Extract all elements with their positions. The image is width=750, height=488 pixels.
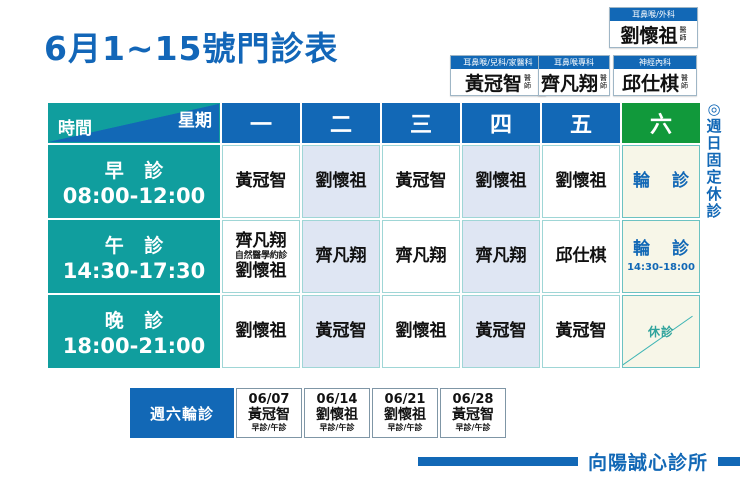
rotation-entry-0: 06/07 黃冠智 早診/午診 (236, 388, 302, 438)
slot-mon-morning: 黃冠智 (222, 145, 300, 218)
rotation-entry-3: 06/28 黃冠智 早診/午診 (440, 388, 506, 438)
rotation-label: 輪 診 (623, 240, 699, 260)
day-header-tue: 二 (302, 103, 380, 143)
doctor-specialty: 耳鼻喉/兒科/家醫科 (451, 56, 545, 69)
rotation-row: 週六輪診 06/07 黃冠智 早診/午診 06/14 劉懷祖 早診/午診 06/… (130, 388, 506, 438)
schedule-table: 時間 星期 一 二 三 四 五 六 早 診 08:00-12:00 黃冠智 劉懷… (46, 101, 702, 370)
sunday-closed-note: ◎ 週 日 固 定 休 診 (702, 101, 726, 220)
rotation-entry-2: 06/21 劉懷祖 早診/午診 (372, 388, 438, 438)
doctor-title-char-top: 醫 (680, 26, 687, 34)
rotation-doctor: 黃冠智 (441, 408, 505, 423)
rotation-sessions: 早診/午診 (305, 424, 369, 432)
rotation-date: 06/07 (237, 393, 301, 407)
rotation-doctor: 黃冠智 (237, 408, 301, 423)
day-header-fri: 五 (542, 103, 620, 143)
rotation-table-label: 週六輪診 (130, 388, 234, 438)
rotation-date: 06/14 (305, 393, 369, 407)
footer: 向陽誠心診所 (0, 448, 750, 474)
slot-mon-evening: 劉懷祖 (222, 295, 300, 368)
sunday-note-char-5: 休 (702, 186, 726, 203)
rotation-date: 06/28 (441, 393, 505, 407)
doctor-name-wrap: 齊凡翔 醫 師 (539, 69, 609, 95)
time-cell-afternoon: 午 診 14:30-17:30 (48, 220, 220, 293)
doctor-card-chi: 耳鼻喉專科 齊凡翔 醫 師 (538, 55, 610, 96)
rotation-sessions: 早診/午診 (441, 424, 505, 432)
footer-rule-right (718, 457, 740, 466)
doctor-specialty: 耳鼻喉/外科 (610, 8, 697, 21)
session-label: 早 診 (49, 156, 219, 183)
table-row-morning: 早 診 08:00-12:00 黃冠智 劉懷祖 黃冠智 劉懷祖 劉懷祖 輪 診 (48, 145, 700, 218)
sunday-note-char-2: 日 (702, 135, 726, 152)
doctor-name: 黃冠智 (465, 69, 522, 96)
slot-wed-morning: 黃冠智 (382, 145, 460, 218)
slot-thu-evening: 黃冠智 (462, 295, 540, 368)
slot-sat-morning: 輪 診 (622, 145, 700, 218)
doctor-title-char-bottom: 師 (681, 82, 688, 90)
session-label: 晚 診 (49, 306, 219, 333)
slot-fri-evening: 黃冠智 (542, 295, 620, 368)
sunday-note-char-3: 固 (702, 152, 726, 169)
header-corner-cell: 時間 星期 (48, 103, 220, 143)
rotation-sessions: 早診/午診 (237, 424, 301, 432)
doctor-title-suffix: 醫 師 (681, 74, 688, 90)
slot-thu-morning: 劉懷祖 (462, 145, 540, 218)
doctor-title-char-top: 醫 (681, 74, 688, 82)
session-time: 14:30-17:30 (49, 259, 219, 283)
doctor-title-char-bottom: 師 (600, 82, 607, 90)
slot-fri-morning: 劉懷祖 (542, 145, 620, 218)
doctor-name-wrap: 劉懷祖 醫 師 (610, 21, 697, 47)
day-header-thu: 四 (462, 103, 540, 143)
table-row-evening: 晚 診 18:00-21:00 劉懷祖 黃冠智 劉懷祖 黃冠智 黃冠智 休診 (48, 295, 700, 368)
sunday-note-char-4: 定 (702, 169, 726, 186)
doctor-title-suffix: 醫 師 (524, 74, 531, 90)
corner-time-label: 時間 (58, 114, 92, 139)
rotation-date: 06/21 (373, 393, 437, 407)
slot-wed-evening: 劉懷祖 (382, 295, 460, 368)
doctor-card-huang: 耳鼻喉/兒科/家醫科 黃冠智 醫 師 (450, 55, 546, 96)
doctor-name-wrap: 邱仕棋 醫 師 (614, 69, 696, 95)
day-header-mon: 一 (222, 103, 300, 143)
slot-mon-afternoon: 齊凡翔 自然醫學約診 劉懷祖 (222, 220, 300, 293)
session-time: 08:00-12:00 (49, 184, 219, 208)
rotation-doctor: 劉懷祖 (305, 408, 369, 423)
slot-tue-evening: 黃冠智 (302, 295, 380, 368)
slot-doctor-primary: 齊凡翔 (223, 232, 299, 252)
table-row-afternoon: 午 診 14:30-17:30 齊凡翔 自然醫學約診 劉懷祖 齊凡翔 齊凡翔 齊… (48, 220, 700, 293)
slot-tue-morning: 劉懷祖 (302, 145, 380, 218)
closed-label: 休診 (648, 325, 674, 339)
rotation-entry-1: 06/14 劉懷祖 早診/午診 (304, 388, 370, 438)
doctor-title-suffix: 醫 師 (600, 74, 607, 90)
slot-fri-afternoon: 邱仕棋 (542, 220, 620, 293)
doctor-title-char-bottom: 師 (680, 34, 687, 42)
saturday-rotation-table: 週六輪診 06/07 黃冠智 早診/午診 06/14 劉懷祖 早診/午診 06/… (128, 386, 508, 440)
slot-tue-afternoon: 齊凡翔 (302, 220, 380, 293)
sunday-note-char-1: 週 (702, 118, 726, 135)
rotation-time: 14:30-18:00 (623, 262, 699, 274)
day-header-wed: 三 (382, 103, 460, 143)
doctor-title-char-bottom: 師 (524, 82, 531, 90)
time-cell-morning: 早 診 08:00-12:00 (48, 145, 220, 218)
doctor-name-wrap: 黃冠智 醫 師 (451, 69, 545, 95)
corner-week-label: 星期 (178, 106, 212, 131)
rotation-sessions: 早診/午診 (373, 424, 437, 432)
sunday-note-char-6: 診 (702, 203, 726, 220)
day-header-sat: 六 (622, 103, 700, 143)
slot-wed-afternoon: 齊凡翔 (382, 220, 460, 293)
rotation-label: 輪 診 (623, 172, 699, 192)
doctor-name: 劉懷祖 (620, 21, 677, 48)
doctor-title-char-top: 醫 (600, 74, 607, 82)
slot-thu-afternoon: 齊凡翔 (462, 220, 540, 293)
doctor-title-char-top: 醫 (524, 74, 531, 82)
doctor-title-suffix: 醫 師 (680, 26, 687, 42)
session-label: 午 診 (49, 231, 219, 258)
doctor-specialty: 神經內科 (614, 56, 696, 69)
slot-sat-evening-closed: 休診 (622, 295, 700, 368)
table-header-row: 時間 星期 一 二 三 四 五 六 (48, 103, 700, 143)
doctor-name: 齊凡翔 (541, 69, 598, 96)
rotation-doctor: 劉懷祖 (373, 408, 437, 423)
doctor-card-liu: 耳鼻喉/外科 劉懷祖 醫 師 (609, 7, 698, 48)
sunday-note-char-0: ◎ (702, 101, 726, 118)
slot-sat-afternoon: 輪 診 14:30-18:00 (622, 220, 700, 293)
footer-rule-left (418, 457, 578, 466)
clinic-name: 向陽誠心診所 (588, 448, 708, 475)
slot-doctor-secondary: 劉懷祖 (223, 262, 299, 282)
time-cell-evening: 晚 診 18:00-21:00 (48, 295, 220, 368)
session-time: 18:00-21:00 (49, 334, 219, 358)
doctor-specialty: 耳鼻喉專科 (539, 56, 609, 69)
doctor-card-chiu: 神經內科 邱仕棋 醫 師 (613, 55, 697, 96)
doctor-name: 邱仕棋 (622, 69, 679, 96)
page-title: 6月1~15號門診表 (44, 22, 339, 70)
